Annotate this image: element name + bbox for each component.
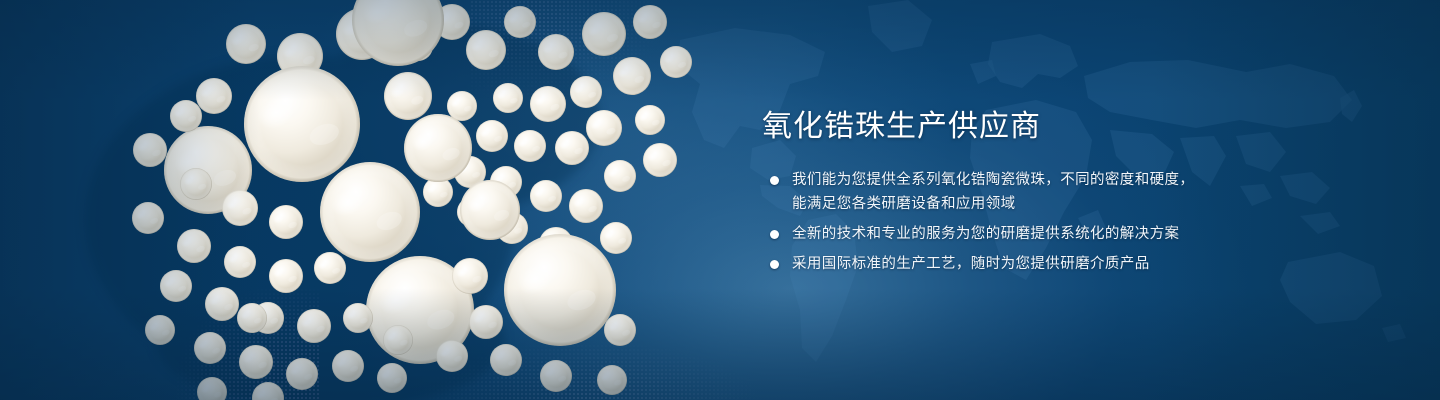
hero-banner: 氧化锆珠生产供应商 我们能为您提供全系列氧化锆陶瓷微珠，不同的密度和硬度， 能满… [0,0,1440,400]
edge-vignette [0,0,1440,400]
